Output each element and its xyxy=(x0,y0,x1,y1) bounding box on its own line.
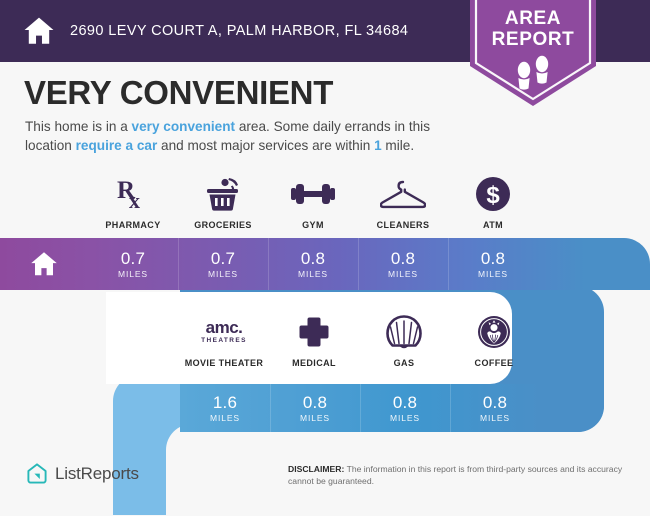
row2-distance-bar: 1.6 MILES 0.8 MILES 0.8 MILES 0.8 MILES xyxy=(180,384,604,432)
distance-value: 0.8 xyxy=(483,393,507,412)
category-movie-theater: amc. THEATRES MOVIE THEATER xyxy=(179,312,269,368)
desc-highlight-1: very convenient xyxy=(132,119,236,134)
home-icon xyxy=(22,14,56,48)
category-label: MEDICAL xyxy=(292,358,336,368)
distance-value: 1.6 xyxy=(213,393,237,412)
grocery-basket-icon xyxy=(204,174,242,214)
distance-segment: 0.8 MILES xyxy=(448,238,538,290)
badge-shield-shape xyxy=(466,0,600,110)
distance-value: 0.8 xyxy=(393,393,417,412)
svg-text:amc.: amc. xyxy=(206,318,243,337)
category-label: CLEANERS xyxy=(377,220,430,230)
listreports-logo: ListReports xyxy=(26,462,139,486)
starbucks-logo-icon xyxy=(477,312,511,352)
distance-value: 0.8 xyxy=(303,393,327,412)
bar-home-marker xyxy=(0,249,88,279)
distance-segment: 0.8 MILES xyxy=(450,384,540,432)
clothes-hanger-icon xyxy=(380,174,426,214)
svg-text:THEATRES: THEATRES xyxy=(201,337,247,344)
row1-distance-bar: 0.7 MILES 0.7 MILES 0.8 MILES 0.8 MILES … xyxy=(0,238,650,290)
area-report-badge: AREA REPORT xyxy=(466,0,600,110)
distance-unit: MILES xyxy=(210,413,240,423)
category-label: PHARMACY xyxy=(105,220,160,230)
desc-highlight-3: 1 xyxy=(374,138,382,153)
distance-unit: MILES xyxy=(478,269,508,279)
distance-unit: MILES xyxy=(388,269,418,279)
distance-unit: MILES xyxy=(390,413,420,423)
medical-cross-icon xyxy=(298,312,330,352)
category-groceries: GROCERIES xyxy=(178,174,268,230)
category-atm: $ ATM xyxy=(448,174,538,230)
category-medical: MEDICAL xyxy=(269,312,359,368)
category-cleaners: CLEANERS xyxy=(358,174,448,230)
accent-shape-notch xyxy=(166,424,296,516)
category-label: GYM xyxy=(302,220,324,230)
desc-part-3: and most major services are within xyxy=(157,138,374,153)
distance-unit: MILES xyxy=(300,413,330,423)
category-label: MOVIE THEATER xyxy=(185,358,264,368)
svg-text:x: x xyxy=(129,188,140,212)
page-description: This home is in a very convenient area. … xyxy=(25,117,465,155)
category-label: GAS xyxy=(394,358,415,368)
disclaimer: DISCLAIMER: The information in this repo… xyxy=(288,463,638,487)
distance-value: 0.8 xyxy=(301,249,325,268)
pharmacy-rx-icon: R x xyxy=(116,174,150,214)
distance-segment: 0.7 MILES xyxy=(88,238,178,290)
property-address: 2690 LEVY COURT A, PALM HARBOR, FL 34684 xyxy=(70,23,408,39)
category-gas: GAS xyxy=(359,312,449,368)
category-gym: GYM xyxy=(268,174,358,230)
listreports-house-icon xyxy=(26,462,48,486)
page-title: VERY CONVENIENT xyxy=(24,74,333,112)
desc-part-1: This home is in a xyxy=(25,119,132,134)
distance-segment: 0.7 MILES xyxy=(178,238,268,290)
distance-unit: MILES xyxy=(298,269,328,279)
distance-value: 0.8 xyxy=(391,249,415,268)
distance-unit: MILES xyxy=(480,413,510,423)
distance-segment: 0.8 MILES xyxy=(358,238,448,290)
desc-highlight-2: require a car xyxy=(76,138,158,153)
distance-segment: 1.6 MILES xyxy=(180,384,270,432)
distance-value: 0.8 xyxy=(481,249,505,268)
distance-value: 0.7 xyxy=(211,249,235,268)
distance-unit: MILES xyxy=(208,269,238,279)
row2-icon-strip: amc. THEATRES MOVIE THEATER MEDICAL xyxy=(179,312,539,368)
row1-icon-strip: R x PHARMACY GROC xyxy=(88,174,538,230)
dumbbell-icon xyxy=(291,174,335,214)
category-label: GROCERIES xyxy=(194,220,252,230)
category-label: COFFEE xyxy=(475,358,514,368)
amc-theatres-logo-icon: amc. THEATRES xyxy=(196,312,252,352)
distance-unit: MILES xyxy=(118,269,148,279)
dollar-circle-icon: $ xyxy=(475,174,511,214)
distance-value: 0.7 xyxy=(121,249,145,268)
svg-text:$: $ xyxy=(486,182,500,209)
listreports-wordmark: ListReports xyxy=(55,464,139,484)
distance-segment: 0.8 MILES xyxy=(268,238,358,290)
home-icon xyxy=(29,249,59,279)
disclaimer-label: DISCLAIMER: xyxy=(288,464,344,474)
category-label: ATM xyxy=(483,220,503,230)
category-coffee: COFFEE xyxy=(449,312,539,368)
distance-segment: 0.8 MILES xyxy=(270,384,360,432)
desc-part-4: mile. xyxy=(382,138,414,153)
distance-segment: 0.8 MILES xyxy=(360,384,450,432)
category-pharmacy: R x PHARMACY xyxy=(88,174,178,230)
shell-logo-icon xyxy=(386,312,422,352)
